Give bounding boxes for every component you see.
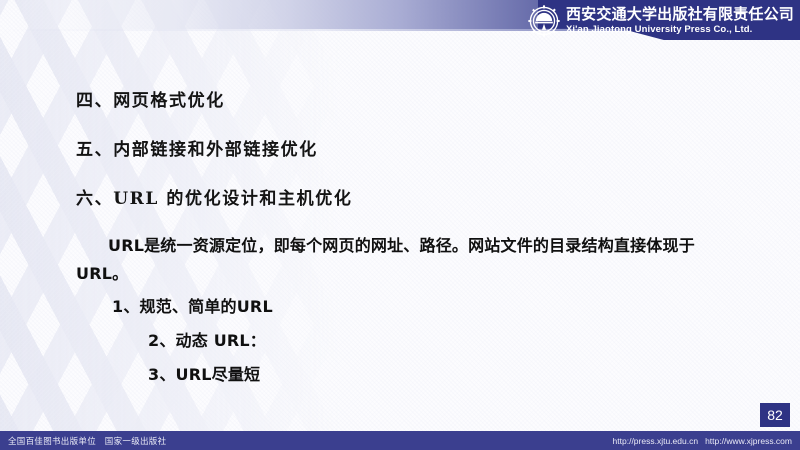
sub-item-1: 1、规范、简单的URL <box>112 293 273 317</box>
section-heading-five: 五、内部链接和外部链接优化 <box>76 135 318 160</box>
publisher-name-block: 西安交通大学出版社有限责任公司 Xi'an Jiaotong Universit… <box>566 7 794 35</box>
publisher-name-cn: 西安交通大学出版社有限责任公司 <box>566 7 794 22</box>
footer-url-primary[interactable]: http://press.xjtu.edu.cn <box>613 436 699 446</box>
section-heading-four: 四、网页格式优化 <box>76 86 225 111</box>
footer-bar: 全国百佳图书出版单位 国家一级出版社 http://press.xjtu.edu… <box>0 431 800 450</box>
footer-url-secondary[interactable]: http://www.xjpress.com <box>705 436 792 446</box>
footer-accolades: 全国百佳图书出版单位 国家一级出版社 <box>0 435 166 447</box>
publisher-name-en: Xi'an Jiaotong University Press Co., Ltd… <box>566 25 794 35</box>
page-number-badge: 82 <box>760 403 790 427</box>
section-heading-six: 六、URL 的优化设计和主机优化 <box>76 184 352 209</box>
url-definition-paragraph: URL是统一资源定位，即每个网页的网址、路径。网站文件的目录结构直接体现于URL… <box>76 232 742 288</box>
publisher-logo-lockup: 西安交通大学出版社有限责任公司 Xi'an Jiaotong Universit… <box>527 2 794 40</box>
xjtu-press-gear-emblem-icon <box>527 4 561 38</box>
footer-urls: http://press.xjtu.edu.cn http://www.xjpr… <box>613 436 800 446</box>
slide-canvas: 西安交通大学出版社有限责任公司 Xi'an Jiaotong Universit… <box>0 0 800 450</box>
sub-item-2: 2、动态 URL： <box>148 327 266 351</box>
slide-content: 四、网页格式优化 五、内部链接和外部链接优化 六、URL 的优化设计和主机优化 … <box>0 60 800 390</box>
sub-item-3: 3、URL尽量短 <box>148 361 260 385</box>
